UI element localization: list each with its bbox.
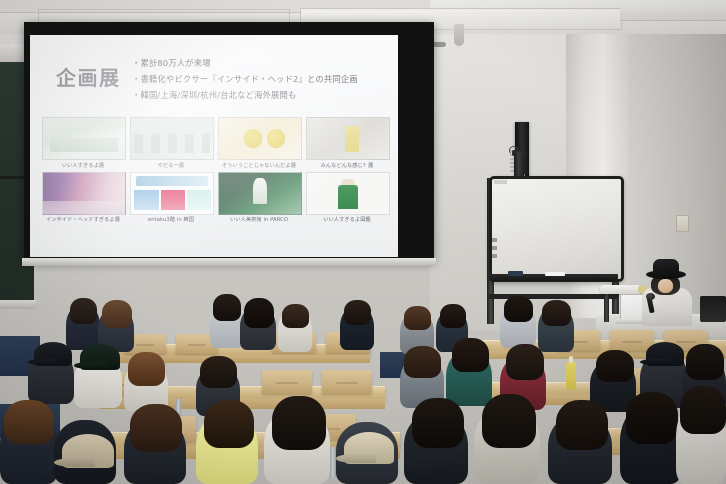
whiteboard-logo: [494, 180, 507, 184]
thumbnail-cell: みんなどんな感じ？展: [306, 117, 388, 169]
wall-outlet: [676, 215, 689, 232]
thumbnail-caption: いい人すぎるよ図鑑: [306, 216, 388, 223]
slide-bullet: ・累計80万人が来場: [132, 56, 388, 72]
thumbnail-caption: entaku3階 in 韓国: [130, 216, 212, 223]
baseball-cap: [62, 434, 114, 468]
poster-panel: [134, 190, 159, 211]
slide-thumbnail-grid: いい人すぎるよ展 やだなー展 そういうことじゃないんだよ展 みんなどんな感じ？展: [42, 117, 388, 226]
poster-panel: [161, 190, 186, 211]
seat-back: [322, 370, 372, 394]
audience-hair: [344, 300, 371, 325]
seat-back: [262, 370, 312, 394]
audience-hair: [686, 344, 724, 380]
ceiling-panel: [620, 6, 726, 21]
audience-hair: [130, 404, 182, 452]
thumbnail-cell: いい人すぎるよ図鑑: [306, 172, 388, 224]
audience-hair: [596, 350, 634, 382]
exhibit-photo: [130, 117, 214, 160]
whiteboard-magnets: [492, 238, 497, 260]
slide-bullet: ・韓国/上海/深圳/杭州/台北など海外展開も: [132, 88, 388, 104]
audience-hair: [102, 300, 132, 328]
exhibit-photo: [42, 117, 126, 160]
screen-bottom-bar: [22, 258, 436, 266]
presenter-face: [658, 279, 673, 293]
thumbnail-caption: いい人美術館 in PARCO: [218, 216, 300, 223]
audience-hair: [626, 392, 678, 444]
whiteboard-eraser: [508, 271, 523, 276]
thumbnail-caption: そういうことじゃないんだよ展: [218, 162, 300, 169]
exhibit-poster: [130, 172, 214, 215]
audience-hair: [70, 298, 97, 324]
audience-hair: [282, 304, 309, 328]
audience-hair: [200, 356, 237, 388]
poster-header: [136, 176, 208, 187]
audience-hair: [440, 304, 466, 328]
thumbnail-cell: そういうことじゃないんだよ展: [218, 117, 300, 169]
audience-hair: [506, 344, 544, 380]
tea-bottle: [566, 362, 576, 390]
audience-hair: [213, 294, 241, 321]
audience-hair: [556, 400, 608, 450]
thumbnail-cell: やだなー展: [130, 117, 212, 169]
audience-hair: [680, 386, 726, 434]
thumbnail-cell: インサイド・ヘッドすぎるよ展: [42, 172, 124, 224]
audience-hair: [482, 394, 536, 448]
exhibit-photo: [218, 117, 302, 160]
side-monitor: [700, 296, 726, 322]
slide-title: 企画展: [56, 62, 121, 91]
book-cover: [306, 172, 390, 215]
thumbnail-caption: いい人すぎるよ展: [42, 162, 124, 169]
lecture-hall-photo: 企画展 ・累計80万人が来場 ・書籍化やピクサー『インサイド・ヘッド2』との共同…: [0, 0, 726, 484]
baseball-cap: [646, 342, 684, 366]
thumbnail-cell: entaku3階 in 韓国: [130, 172, 212, 224]
audience-hair: [404, 306, 431, 330]
exhibit-photo: [42, 172, 126, 215]
audience-hair: [272, 396, 326, 450]
audience-hair: [452, 338, 489, 372]
whiteboard: [489, 176, 624, 282]
thumbnail-caption: インサイド・ヘッドすぎるよ展: [42, 216, 124, 223]
audience-hair: [128, 352, 165, 386]
slide-bullet-list: ・累計80万人が来場 ・書籍化やピクサー『インサイド・ヘッド2』との共同企画 ・…: [132, 56, 388, 104]
audience-hair: [204, 400, 254, 448]
audience-hair: [412, 398, 464, 448]
thumbnail-caption: やだなー展: [130, 162, 212, 169]
audience-hair: [244, 298, 274, 328]
exhibit-photo: [218, 172, 302, 215]
audience-hair: [404, 346, 441, 378]
presenter-hat-crown: [653, 259, 679, 274]
thumbnail-caption: みんなどんな感じ？展: [306, 162, 388, 169]
audience-hair: [542, 300, 571, 326]
audience-hair: [4, 400, 54, 444]
thumbnail-row: いい人すぎるよ展 やだなー展 そういうことじゃないんだよ展 みんなどんな感じ？展: [42, 117, 388, 169]
ceiling-bracket: [454, 24, 464, 46]
poster-panel: [187, 190, 212, 211]
presenter: [640, 262, 694, 324]
audience-hair: [504, 296, 533, 322]
thumbnail-cell: いい人すぎるよ展: [42, 117, 124, 169]
document-camera: [600, 285, 642, 294]
chalk-tray: [0, 300, 36, 309]
baseball-cap: [80, 344, 120, 370]
slide-bullet: ・書籍化やピクサー『インサイド・ヘッド2』との共同企画: [132, 72, 388, 88]
projection-screen: 企画展 ・累計80万人が来場 ・書籍化やピクサー『インサイド・ヘッド2』との共同…: [30, 35, 398, 257]
baseball-cap: [344, 432, 394, 464]
microphone-head: [646, 293, 655, 300]
exhibit-photo: [306, 117, 390, 160]
thumbnail-row: インサイド・ヘッドすぎるよ展 entaku3階 in 韓国 いい人美術館 in …: [42, 172, 388, 224]
whiteboard-marker: [545, 272, 565, 276]
thumbnail-cell: いい人美術館 in PARCO: [218, 172, 300, 224]
baseball-cap: [34, 342, 72, 366]
